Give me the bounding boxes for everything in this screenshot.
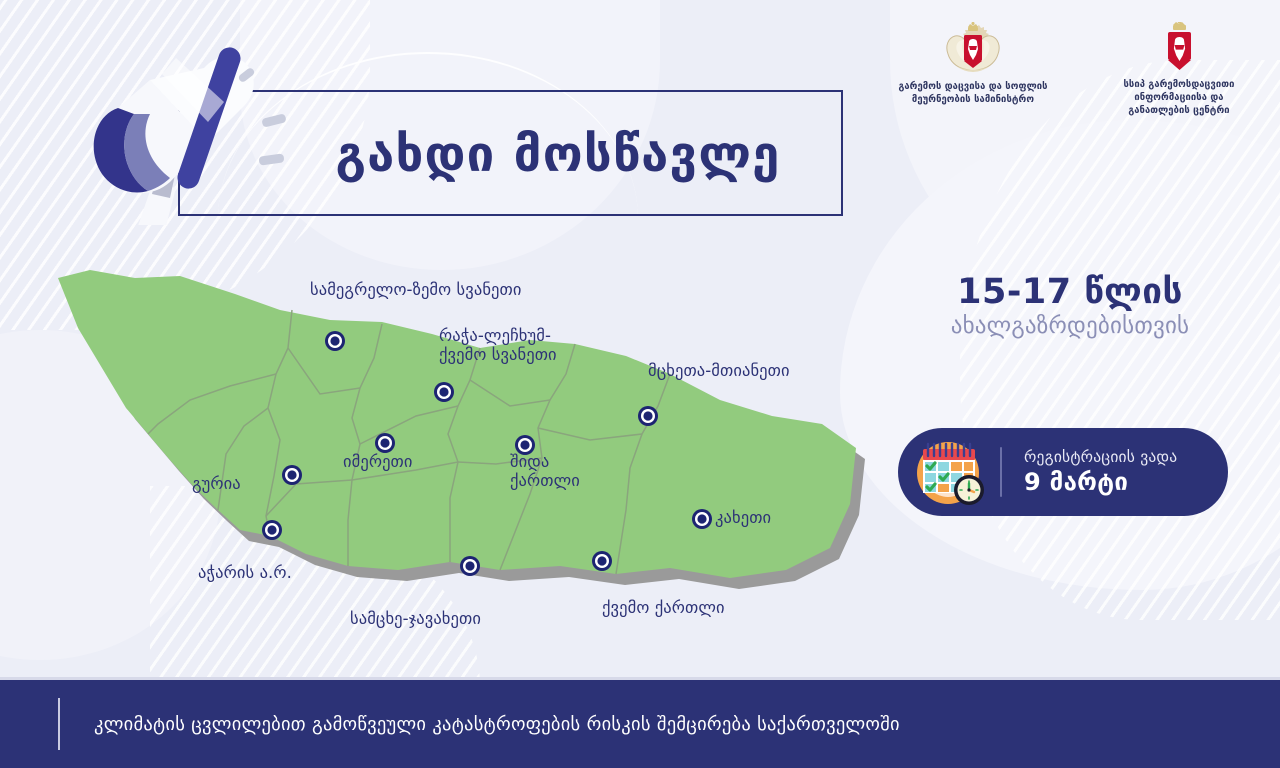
map-pin[interactable] [591,550,613,572]
map-region-label: გურია [192,474,241,493]
map-region-label: სამცხე-ჯავახეთი [350,609,481,628]
map-region-label: შიდა ქართლი [510,452,580,491]
audience-subline: ახალგაზრდებისთვის [880,313,1260,339]
page-title: გახდი მოსწავლე [268,112,848,197]
registration-deadline-badge[interactable]: რეგისტრაციის ვადა 9 მარტი [898,428,1228,516]
deadline-label: რეგისტრაციის ვადა [1024,448,1177,466]
logo-ministry-caption: გარემოს დაცვისა და სოფლის მეურნეობის სამ… [878,81,1068,107]
infographic-canvas: გარემოს დაცვისა და სოფლის მეურნეობის სამ… [0,0,1280,768]
georgia-coat-of-arms-shield-icon [1163,22,1196,72]
deadline-date: 9 მარტი [1024,468,1177,496]
bg-blob-right [840,120,1280,590]
map-pin[interactable] [261,519,283,541]
map-region-label: იმერეთი [343,452,413,471]
footer-bar: კლიმატის ცვლილებით გამოწვეული კატასტროფე… [0,680,1280,768]
map-region-label: კახეთი [715,508,771,527]
georgia-coat-of-arms-full-icon [942,22,1004,74]
megaphone-icon [58,30,283,225]
calendar-clock-icon [912,436,988,508]
georgia-regions-map: სამეგრელო-ზემო სვანეთირაჭა-ლეჩხუმ- ქვემო… [30,248,880,638]
logo-center: სსიპ გარემოსდაცვითი ინფორმაციისა და განა… [1104,22,1254,118]
map-region-label: სამეგრელო-ზემო სვანეთი [310,280,521,299]
map-region-label: აჭარის ა.რ. [198,563,292,582]
map-pin[interactable] [374,432,396,454]
map-region-label: ქვემო ქართლი [602,598,725,617]
audience-age: 15-17 წლის [905,272,1235,312]
map-pin[interactable] [433,381,455,403]
map-shape [30,248,880,638]
map-region-label: მცხეთა-მთიანეთი [648,361,790,380]
bg-stripes-right [960,60,1280,620]
footer-project-title: კლიმატის ცვლილებით გამოწვეული კატასტროფე… [94,714,900,735]
header-logos: გარემოს დაცვისა და სოფლის მეურნეობის სამ… [878,22,1254,118]
logo-center-caption: სსიპ გარემოსდაცვითი ინფორმაციისა და განა… [1104,79,1254,118]
map-pin[interactable] [637,405,659,427]
footer-accent-rule [58,698,60,750]
map-pin[interactable] [691,508,713,530]
map-pin[interactable] [459,555,481,577]
pill-divider [1000,447,1002,497]
map-region-label: რაჭა-ლეჩხუმ- ქვემო სვანეთი [439,326,557,365]
map-pin[interactable] [324,330,346,352]
logo-ministry: გარემოს დაცვისა და სოფლის მეურნეობის სამ… [878,22,1068,107]
map-pin[interactable] [281,464,303,486]
